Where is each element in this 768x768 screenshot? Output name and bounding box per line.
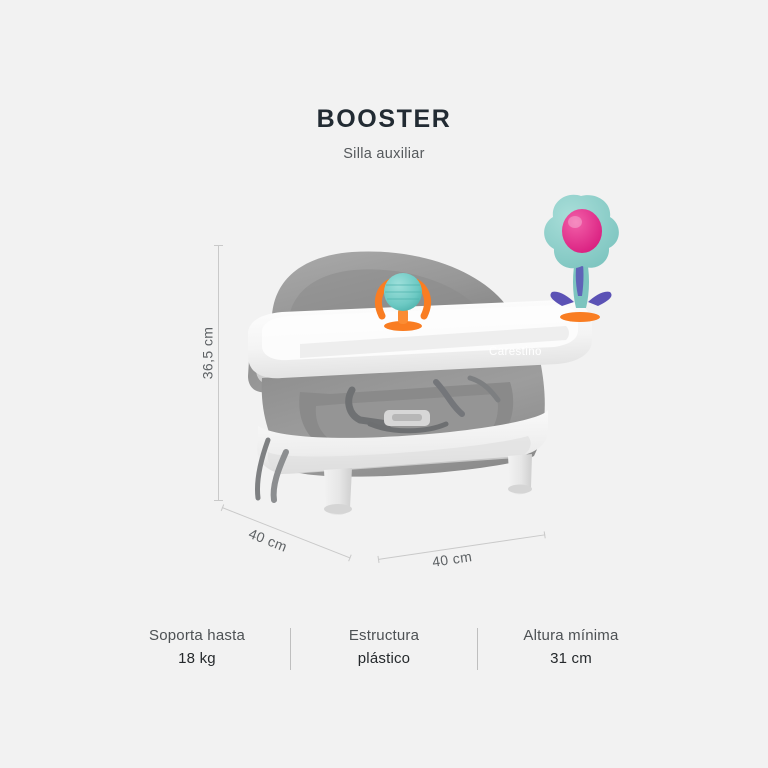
spec-value: 31 cm — [484, 647, 658, 670]
specs-row: Soporta hasta 18 kg Estructura plástico … — [104, 624, 664, 670]
flower-suction-base — [560, 312, 600, 322]
spec-item-structure: Estructura plástico — [291, 624, 477, 670]
flower-center — [562, 209, 602, 253]
infographic-canvas: BOOSTER Silla auxiliar — [0, 0, 768, 768]
product-image: Carestino — [0, 0, 768, 600]
spec-item-weight-capacity: Soporta hasta 18 kg — [104, 624, 290, 670]
brand-logo-text: Carestino — [489, 346, 542, 358]
spec-value: 18 kg — [110, 647, 284, 670]
spec-item-min-height: Altura mínima 31 cm — [478, 624, 664, 670]
flower-leaf-right — [588, 292, 612, 306]
height-label: 36,5 cm — [199, 327, 215, 380]
spec-label: Estructura — [297, 624, 471, 647]
spec-label: Altura mínima — [484, 624, 658, 647]
booster-seat-illustration: Carestino — [0, 0, 768, 600]
height-measure-line — [218, 245, 219, 500]
height-cap-top — [214, 245, 223, 246]
spec-value: plástico — [297, 647, 471, 670]
spec-label: Soporta hasta — [110, 624, 284, 647]
height-cap-bottom — [214, 500, 223, 501]
